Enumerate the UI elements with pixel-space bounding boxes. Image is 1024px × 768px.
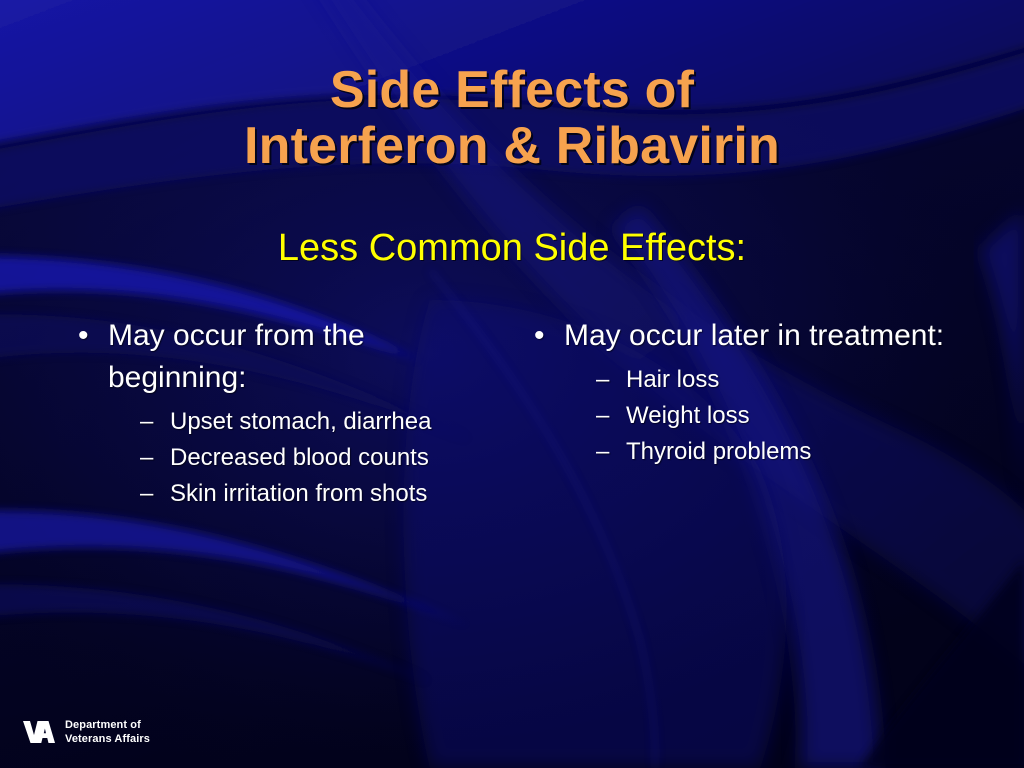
- slide-body: • May occur from the beginning: – Upset …: [0, 315, 1024, 735]
- list-item-text: Decreased blood counts: [170, 441, 498, 475]
- list-item-text: Thyroid problems: [626, 435, 1010, 469]
- dash-marker-icon: –: [140, 441, 170, 475]
- bullet-column-right: • May occur later in treatment: – Hair l…: [512, 315, 1024, 471]
- list-item-text: Hair loss: [626, 363, 1010, 397]
- bullet-marker-icon: •: [534, 315, 564, 357]
- va-logo-line-1: Department of: [65, 718, 150, 732]
- list-item: – Decreased blood counts: [140, 441, 498, 475]
- va-logo-line-2: Veterans Affairs: [65, 732, 150, 746]
- bullet-heading: • May occur later in treatment:: [534, 315, 1010, 357]
- va-logo-wordmark: Department of Veterans Affairs: [65, 718, 150, 746]
- list-item-text: Weight loss: [626, 399, 1010, 433]
- bullet-column-left: • May occur from the beginning: – Upset …: [0, 315, 512, 513]
- slide-title: Side Effects of Interferon & Ribavirin: [0, 62, 1024, 174]
- va-monogram-icon: [22, 718, 56, 746]
- va-logo: Department of Veterans Affairs: [22, 718, 150, 746]
- title-line-1: Side Effects of: [0, 62, 1024, 118]
- bullet-marker-icon: •: [78, 315, 108, 357]
- list-item: – Hair loss: [596, 363, 1010, 397]
- dash-marker-icon: –: [596, 399, 626, 433]
- list-item: – Thyroid problems: [596, 435, 1010, 469]
- slide-subtitle: Less Common Side Effects:: [0, 228, 1024, 270]
- dash-marker-icon: –: [140, 405, 170, 439]
- dash-marker-icon: –: [596, 363, 626, 397]
- bullet-heading-text: May occur later in treatment:: [564, 315, 1010, 357]
- sub-bullet-list: – Hair loss – Weight loss – Thyroid prob…: [534, 363, 1010, 469]
- dash-marker-icon: –: [140, 477, 170, 511]
- sub-bullet-list: – Upset stomach, diarrhea – Decreased bl…: [78, 405, 498, 511]
- bullet-heading-text: May occur from the beginning:: [108, 315, 498, 399]
- bullet-heading: • May occur from the beginning:: [78, 315, 498, 399]
- list-item: – Skin irritation from shots: [140, 477, 498, 511]
- list-item: – Upset stomach, diarrhea: [140, 405, 498, 439]
- presentation-slide: Side Effects of Interferon & Ribavirin L…: [0, 0, 1024, 768]
- list-item: – Weight loss: [596, 399, 1010, 433]
- dash-marker-icon: –: [596, 435, 626, 469]
- title-line-2: Interferon & Ribavirin: [0, 118, 1024, 174]
- list-item-text: Upset stomach, diarrhea: [170, 405, 498, 439]
- list-item-text: Skin irritation from shots: [170, 477, 498, 511]
